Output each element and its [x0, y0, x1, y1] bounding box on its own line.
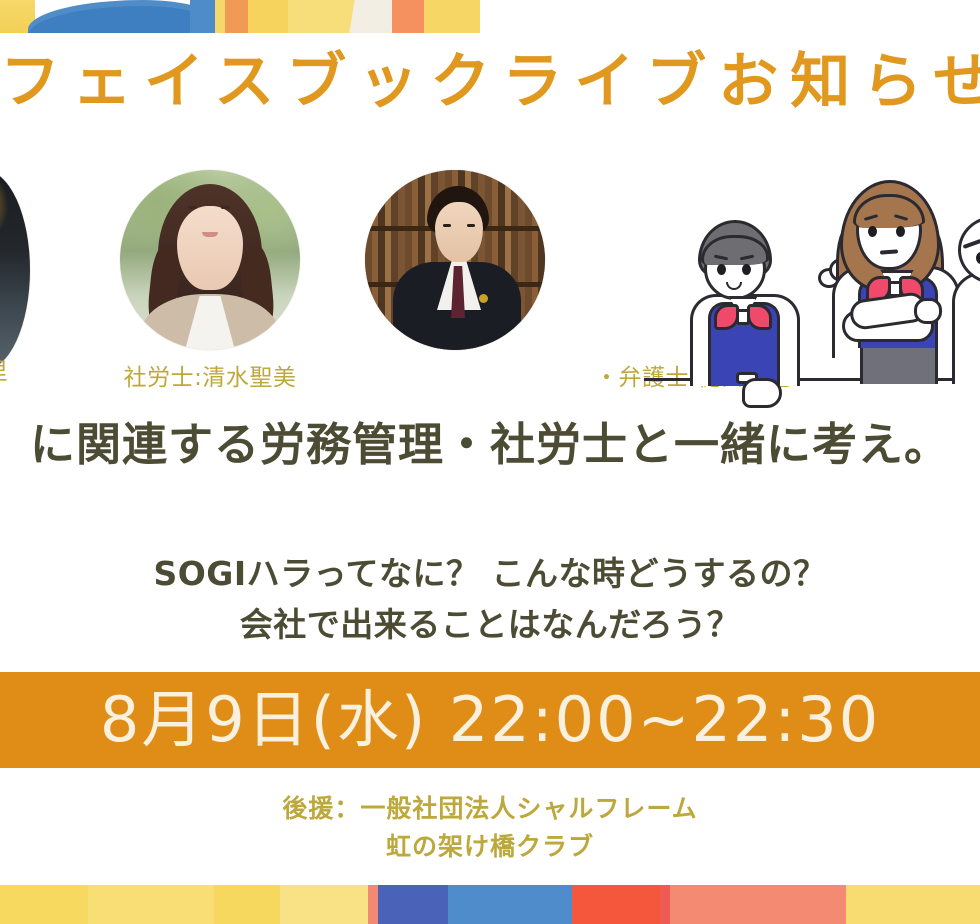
paint-band-yellow-5	[424, 0, 480, 33]
boy-hand	[742, 378, 782, 408]
third-eye	[976, 252, 980, 264]
poster-root: フェイスブックライブお知らせ 多朱里 社労士:清水聖美	[0, 0, 980, 924]
question-line-2: 会社で出来ることはなんだろう？	[0, 599, 980, 650]
boy-bowtie-icon	[714, 304, 772, 330]
question-line-1: SOGIハラってなに？ こんな時どうするの？	[0, 548, 980, 599]
paint-band-yellow-5	[846, 885, 980, 924]
top-paint-strip	[0, 0, 980, 33]
paint-band-yellow-3	[214, 885, 284, 924]
paint-band-yellow-4	[280, 885, 372, 924]
angry-girl-figure	[836, 180, 956, 382]
paint-band-yellow-2	[88, 885, 218, 924]
paint-band-yellow	[0, 885, 92, 924]
avatar	[0, 170, 30, 370]
lawyer-badge-icon	[479, 294, 488, 303]
face-shape	[435, 202, 483, 262]
avatar	[365, 170, 545, 350]
paint-band-blue	[448, 885, 574, 924]
third-head	[958, 216, 980, 284]
boy-eye-left	[717, 264, 726, 275]
avatar	[120, 170, 300, 350]
date-banner: 8月9日(水) 22:00~22:30	[0, 672, 980, 768]
third-body	[952, 272, 980, 384]
eye-right	[467, 224, 475, 227]
sad-boy-figure	[690, 220, 800, 382]
paint-band-blue-dark	[378, 885, 450, 924]
paint-band-red	[572, 885, 662, 924]
paint-band-yellow-4	[288, 0, 358, 33]
speaker-3: ・弁護士:樋口智紀	[365, 170, 545, 350]
portrait-image-1	[0, 170, 30, 370]
page-title: フェイスブックライブお知らせ	[0, 52, 980, 112]
speaker-2-caption: 社労士:清水聖美	[110, 358, 310, 392]
eye-right	[221, 206, 230, 209]
girl-eye-right	[896, 226, 905, 237]
sponsor-line-1: 後援：一般社団法人シャルフレーム	[0, 790, 980, 828]
face-shape	[177, 206, 243, 290]
speaker-2: 社労士:清水聖美	[120, 170, 300, 350]
paint-band-white	[349, 0, 396, 33]
subheadline: に関連する労務管理・社労士と一緒に考え。	[0, 422, 980, 467]
mouth	[202, 232, 218, 237]
question-block: SOGIハラってなに？ こんな時どうするの？ 会社で出来ることはなんだろう？	[0, 548, 980, 650]
girl-hand	[914, 298, 942, 324]
eye-left	[443, 224, 451, 227]
workplace-harassment-cartoon	[636, 168, 980, 412]
sponsor-block: 後援：一般社団法人シャルフレーム 虹の架け橋クラブ	[0, 790, 980, 865]
speaker-1-caption: 多朱里	[0, 352, 48, 386]
sponsor-line-2: 虹の架け橋クラブ	[0, 828, 980, 866]
third-person-partial-figure	[952, 216, 980, 384]
date-banner-text: 8月9日(水) 22:00~22:30	[100, 689, 880, 751]
paint-band-salmon	[670, 885, 850, 924]
girl-eye-left	[868, 226, 877, 237]
bottom-paint-strip	[0, 885, 980, 924]
boy-eye-right	[742, 264, 751, 275]
speaker-1: 多朱里	[0, 170, 30, 370]
eye-left	[188, 206, 197, 209]
